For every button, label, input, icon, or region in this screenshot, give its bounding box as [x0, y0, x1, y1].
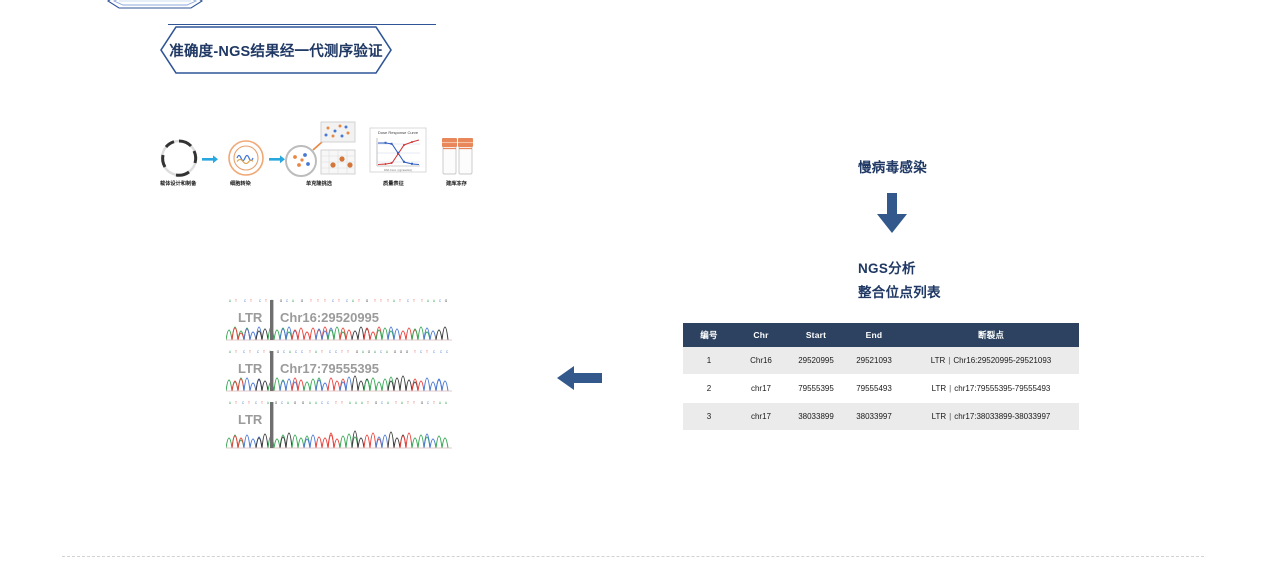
svg-text:C: C: [381, 401, 384, 405]
chromatogram-ltr-label-2: LTR: [238, 361, 263, 376]
breakpoint-prefix: LTR: [931, 356, 946, 365]
arrow-down-icon: [876, 192, 908, 234]
cell-id: 3: [683, 403, 735, 431]
cell-chr: chr17: [735, 403, 787, 431]
svg-text:A: A: [352, 299, 355, 303]
svg-text:A: A: [387, 401, 390, 405]
svg-text:T: T: [310, 299, 312, 303]
svg-text:G: G: [301, 299, 304, 303]
workflow-labels: 载体设计和制备 细胞转染 单克隆挑选 质量表征 建库冻存: [158, 180, 482, 194]
cell-breakpoint: LTR|Chr16:29520995-29521093: [903, 347, 1079, 375]
svg-text:C: C: [332, 299, 335, 303]
svg-text:T: T: [338, 299, 340, 303]
svg-text:T: T: [341, 401, 343, 405]
svg-text:G: G: [421, 401, 424, 405]
column-header-id: 编号: [683, 323, 735, 347]
cell-start: 79555395: [787, 375, 845, 403]
svg-text:A: A: [401, 401, 404, 405]
table-header-row: 编号 Chr Start End 断裂点: [683, 323, 1079, 347]
cell-start: 38033899: [787, 403, 845, 431]
svg-text:A: A: [361, 401, 364, 405]
workflow-label-0: 载体设计和制备: [160, 180, 196, 187]
svg-text:A: A: [393, 299, 396, 303]
cell-transfection-icon: [229, 141, 263, 175]
workflow-label-4: 建库冻存: [446, 180, 467, 187]
svg-text:T: T: [433, 401, 435, 405]
breakpoint-value: Chr16:29520995-29521093: [953, 356, 1051, 365]
cell-chr: chr17: [735, 375, 787, 403]
svg-text:C: C: [255, 401, 258, 405]
svg-text:G: G: [294, 401, 297, 405]
svg-text:C: C: [346, 299, 349, 303]
svg-text:C: C: [321, 401, 324, 405]
svg-text:T: T: [335, 401, 337, 405]
column-header-end: End: [845, 323, 903, 347]
svg-text:T: T: [387, 299, 389, 303]
svg-text:C: C: [295, 350, 298, 354]
chromatogram-traces: AT CT CT AG CA GT TT CT CA TG TT TA TC T…: [226, 296, 452, 454]
cell-end: 29521093: [845, 347, 903, 375]
svg-text:C: C: [407, 299, 410, 303]
svg-text:T: T: [248, 401, 250, 405]
workflow-icons: Dose Response Curve DNA Conc. (ng/reacti…: [158, 120, 482, 180]
svg-text:A: A: [315, 401, 318, 405]
cryovial-icon: [442, 138, 473, 174]
breakpoint-prefix: LTR: [932, 412, 947, 421]
svg-text:G: G: [406, 350, 409, 354]
page-title: 准确度-NGS结果经一代测序验证: [160, 26, 392, 74]
chromatogram-ltr-label-1: LTR: [238, 310, 263, 325]
svg-text:C: C: [327, 401, 330, 405]
cell-end: 38033997: [845, 403, 903, 431]
svg-text:C: C: [420, 350, 423, 354]
cell-breakpoint: LTR|chr17:38033899-38033997: [903, 403, 1079, 431]
svg-text:C: C: [440, 350, 443, 354]
svg-text:T: T: [250, 299, 252, 303]
svg-text:A: A: [386, 350, 389, 354]
svg-text:A: A: [315, 350, 318, 354]
svg-text:A: A: [292, 299, 295, 303]
svg-text:T: T: [374, 299, 376, 303]
svg-text:G: G: [280, 299, 283, 303]
svg-text:T: T: [399, 299, 401, 303]
chromatogram-locus-label-1: Chr16:29520995: [280, 310, 379, 325]
svg-text:A: A: [267, 401, 270, 405]
svg-text:C: C: [259, 299, 262, 303]
svg-text:A: A: [349, 401, 352, 405]
footer-divider: [62, 556, 1204, 557]
slide-title-banner: 准确度-NGS结果经一代测序验证: [160, 26, 392, 74]
svg-text:T: T: [235, 401, 237, 405]
svg-text:G: G: [366, 299, 369, 303]
svg-text:T: T: [395, 401, 397, 405]
svg-text:G: G: [375, 401, 378, 405]
sanger-chromatogram-panel: AT CT CT AG CA GT TT CT CA TG TT TA TC T…: [226, 296, 452, 454]
column-header-breakpoint: 断裂点: [903, 323, 1079, 347]
table-row: 1 Chr16 29520995 29521093 LTR|Chr16:2952…: [683, 347, 1079, 375]
banner-horizontal-rule: [168, 24, 436, 25]
svg-text:T: T: [413, 401, 415, 405]
svg-text:G: G: [400, 350, 403, 354]
clone-picking-icon: [286, 122, 355, 176]
svg-text:G: G: [445, 299, 448, 303]
svg-text:T: T: [261, 401, 263, 405]
banner-ribbon-knot-icon: [105, 0, 205, 11]
workflow-label-1: 细胞转染: [230, 180, 251, 187]
svg-text:T: T: [235, 299, 237, 303]
svg-text:C: C: [242, 401, 245, 405]
svg-text:A: A: [355, 401, 358, 405]
svg-text:C: C: [380, 350, 383, 354]
breakpoint-prefix: LTR: [932, 384, 947, 393]
svg-text:A: A: [433, 299, 436, 303]
svg-text:C: C: [286, 299, 289, 303]
svg-text:A: A: [439, 401, 442, 405]
breakpoint-divider-3: [270, 402, 273, 448]
column-header-start: Start: [787, 323, 845, 347]
svg-text:T: T: [407, 401, 409, 405]
arrow-left-icon: [556, 365, 602, 391]
cell-id: 2: [683, 375, 735, 403]
svg-text:A: A: [309, 401, 312, 405]
svg-text:C: C: [439, 299, 442, 303]
flow-label-infection: 慢病毒感染: [858, 156, 927, 176]
svg-text:T: T: [341, 350, 343, 354]
svg-text:A: A: [229, 401, 232, 405]
chromatogram-ltr-label-3: LTR: [238, 412, 263, 427]
svg-text:G: G: [302, 401, 305, 405]
svg-text:T: T: [358, 299, 360, 303]
flow-label-ngs-analysis: NGS分析: [858, 257, 916, 277]
svg-text:A: A: [229, 299, 232, 303]
svg-text:T: T: [317, 299, 319, 303]
svg-text:G: G: [356, 350, 359, 354]
svg-text:T: T: [235, 350, 237, 354]
svg-text:G: G: [368, 350, 371, 354]
svg-text:C: C: [283, 350, 286, 354]
cell-id: 1: [683, 347, 735, 375]
dose-response-curve-icon: Dose Response Curve DNA Conc. (ng/reacti…: [370, 128, 426, 172]
svg-text:T: T: [413, 299, 415, 303]
svg-text:T: T: [347, 350, 349, 354]
svg-text:T: T: [380, 299, 382, 303]
cell-start: 29520995: [787, 347, 845, 375]
workflow-label-2: 单克隆挑选: [306, 180, 332, 187]
breakpoint-divider-1: [270, 300, 273, 340]
svg-text:A: A: [445, 401, 448, 405]
svg-text:C: C: [433, 350, 436, 354]
breakpoint-value: chr17:79555395-79555493: [954, 384, 1050, 393]
svg-text:T: T: [414, 350, 416, 354]
svg-text:C: C: [243, 350, 246, 354]
svg-text:G: G: [275, 401, 278, 405]
svg-text:T: T: [421, 299, 423, 303]
svg-text:T: T: [309, 350, 311, 354]
workflow-diagram: Dose Response Curve DNA Conc. (ng/reacti…: [158, 120, 482, 198]
cell-end: 79555493: [845, 375, 903, 403]
svg-text:T: T: [426, 350, 428, 354]
svg-text:C: C: [281, 401, 284, 405]
svg-text:T: T: [367, 401, 369, 405]
svg-text:G: G: [277, 350, 280, 354]
svg-text:C: C: [301, 350, 304, 354]
svg-text:A: A: [427, 299, 430, 303]
svg-text:A: A: [287, 401, 290, 405]
table-row: 3 chr17 38033899 38033997 LTR|chr17:3803…: [683, 403, 1079, 431]
svg-text:G: G: [394, 350, 397, 354]
svg-text:T: T: [324, 299, 326, 303]
svg-text:A: A: [374, 350, 377, 354]
workflow-label-3: 质量表征: [383, 180, 404, 187]
svg-text:C: C: [446, 350, 449, 354]
svg-text:Dose Response Curve: Dose Response Curve: [378, 130, 419, 135]
svg-text:C: C: [257, 350, 260, 354]
svg-text:A: A: [362, 350, 365, 354]
svg-text:T: T: [265, 299, 267, 303]
table-row: 2 chr17 79555395 79555493 LTR|chr17:7955…: [683, 375, 1079, 403]
breakpoint-divider-2: [270, 351, 273, 391]
svg-text:C: C: [427, 401, 430, 405]
cell-chr: Chr16: [735, 347, 787, 375]
integration-sites-table-wrapper: 编号 Chr Start End 断裂点 1 Chr16 29520995 29…: [683, 323, 1079, 431]
svg-text:T: T: [321, 350, 323, 354]
svg-text:A: A: [289, 350, 292, 354]
svg-text:C: C: [335, 350, 338, 354]
integration-sites-table: 编号 Chr Start End 断裂点 1 Chr16 29520995 29…: [683, 323, 1079, 431]
svg-text:A: A: [229, 350, 232, 354]
svg-text:T: T: [249, 350, 251, 354]
chromatogram-locus-label-2: Chr17:79555395: [280, 361, 379, 376]
svg-text:DNA Conc. (ng/reaction): DNA Conc. (ng/reaction): [384, 168, 412, 172]
svg-text:T: T: [263, 350, 265, 354]
svg-text:C: C: [244, 299, 247, 303]
plasmid-circle-icon: [162, 141, 196, 175]
breakpoint-value: chr17:38033899-38033997: [954, 412, 1050, 421]
flow-label-site-list: 整合位点列表: [858, 281, 941, 301]
cell-breakpoint: LTR|chr17:79555395-79555493: [903, 375, 1079, 403]
column-header-chr: Chr: [735, 323, 787, 347]
svg-text:C: C: [329, 350, 332, 354]
